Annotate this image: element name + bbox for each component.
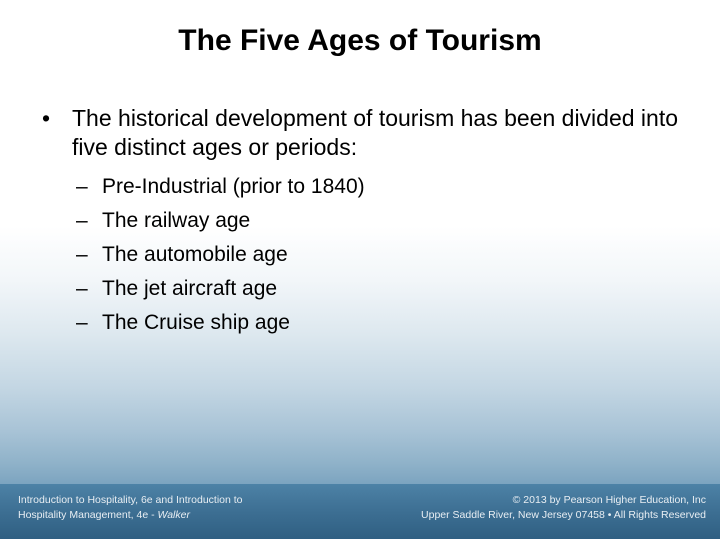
dash-marker: – xyxy=(76,306,88,340)
list-item-label: The jet aircraft age xyxy=(102,277,277,300)
footer-left-line1: Introduction to Hospitality, 6e and Intr… xyxy=(18,493,348,508)
list-item: – The automobile age xyxy=(72,238,694,272)
footer-left-line2-prefix: Hospitality Management, 4e - xyxy=(18,509,157,521)
footer-copyright: © 2013 by Pearson Higher Education, Inc xyxy=(366,493,706,508)
footer-bar: Introduction to Hospitality, 6e and Intr… xyxy=(0,484,720,539)
footer-address: Upper Saddle River, New Jersey 07458 • A… xyxy=(366,508,706,523)
list-item-label: The historical development of tourism ha… xyxy=(72,105,678,160)
dash-marker: – xyxy=(76,272,88,306)
bullet-marker: • xyxy=(42,104,50,133)
list-item: • The historical development of tourism … xyxy=(34,104,694,162)
list-item-label: Pre-Industrial (prior to 1840) xyxy=(102,175,365,198)
list-item: – The jet aircraft age xyxy=(72,272,694,306)
slide-body: • The historical development of tourism … xyxy=(34,104,694,340)
list-item: – The Cruise ship age xyxy=(72,306,694,340)
dash-marker: – xyxy=(76,170,88,204)
footer-left: Introduction to Hospitality, 6e and Intr… xyxy=(18,493,348,523)
footer-right: © 2013 by Pearson Higher Education, Inc … xyxy=(366,493,706,523)
dash-marker: – xyxy=(76,204,88,238)
list-item: – Pre-Industrial (prior to 1840) xyxy=(72,170,694,204)
list-item-label: The automobile age xyxy=(102,243,288,266)
dash-marker: – xyxy=(76,238,88,272)
list-item-label: The railway age xyxy=(102,209,250,232)
footer-author: Walker xyxy=(157,509,189,521)
list-item: – The railway age xyxy=(72,204,694,238)
page-title: The Five Ages of Tourism xyxy=(0,24,720,58)
sub-list: – Pre-Industrial (prior to 1840) – The r… xyxy=(72,170,694,340)
footer-left-line2: Hospitality Management, 4e - Walker xyxy=(18,508,348,523)
list-item-label: The Cruise ship age xyxy=(102,311,290,334)
slide: The Five Ages of Tourism • The historica… xyxy=(0,0,720,539)
